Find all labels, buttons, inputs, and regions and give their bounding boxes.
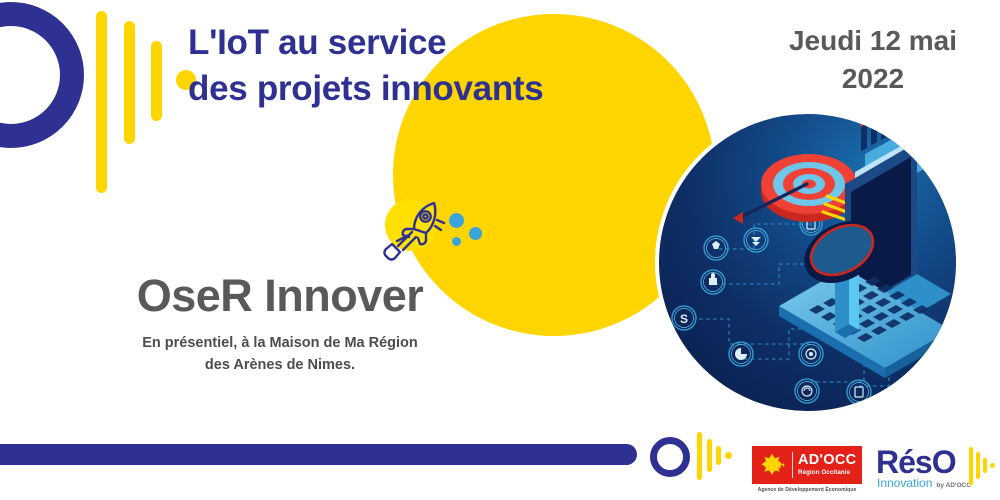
logo-bar-small-icon-1 [697,432,702,480]
reso-tagline: Innovation [877,476,932,490]
event-date: Jeudi 12 mai 2022 [768,22,978,98]
reso-dot-icon [990,463,995,468]
title-line-2: des projets innovants [188,66,658,112]
reso-bar-icon-2 [976,452,980,479]
date-line-2: 2022 [768,60,978,98]
bubble-icon-2 [469,227,482,240]
brand-subtitle-line-1: En présentiel, à la Maison de Ma Région [20,333,540,355]
logo-bar-small-icon-2 [707,439,712,472]
iot-illustration: S [655,110,960,415]
logo-bar-icon-2 [124,21,135,144]
brand-subtitle-line-2: des Arènes de Nimes. [20,355,540,377]
reso-byline: by AD'OCC [936,482,971,489]
occitan-cross-icon [757,450,787,480]
logo-bar-icon-1 [96,11,107,193]
partner-logos: AD'OCC Région Occitanie Agence de Dévelo… [752,440,994,498]
banner-title: L'IoT au service des projets innovants [188,20,658,112]
adocc-tagline: Agence de Développement Économique [752,487,862,493]
svg-text:S: S [680,312,688,326]
bubble-icon-3 [452,237,461,246]
title-line-1: L'IoT au service [188,20,658,66]
reso-bar-icon-1 [969,447,973,485]
logo-ring-icon [0,2,84,148]
logo-dot-small-icon [725,452,732,459]
reso-sub-group: Innovation by AD'OCC [877,476,971,490]
adocc-divider [792,452,793,478]
adocc-wordmark: AD'OCC Région Occitanie [798,453,856,477]
brand-subtitle: En présentiel, à la Maison de Ma Région … [20,333,540,377]
logo-bar-icon-3 [151,41,162,121]
adocc-region: Région Occitanie [798,470,856,477]
rocket-icon [383,196,453,266]
brand-block: OseR Innover En présentiel, à la Maison … [20,272,540,377]
reso-bar-icon-3 [983,458,987,473]
reso-bars-icon [969,447,995,485]
logo-ring-small-icon [650,437,690,477]
logo-bar-small-icon-3 [716,446,721,465]
rocket-icon-group [383,196,498,268]
date-line-1: Jeudi 12 mai [768,22,978,60]
adocc-logo-box: AD'OCC Région Occitanie [752,446,862,484]
reso-partner-logo: RésO Innovation by AD'OCC [876,446,994,492]
brand-name: OseR Innover [20,272,540,319]
adocc-name: AD'OCC [798,453,856,468]
bottom-accent-bar [0,444,637,465]
reso-logo-mark-top [0,2,188,192]
iot-illustration-svg: S [659,114,956,411]
reso-logo-mark-bottom [650,432,730,480]
bubble-icon-1 [449,213,464,228]
adocc-logo: AD'OCC Région Occitanie Agence de Dévelo… [752,446,862,493]
event-banner: L'IoT au service des projets innovants J… [0,0,1000,500]
